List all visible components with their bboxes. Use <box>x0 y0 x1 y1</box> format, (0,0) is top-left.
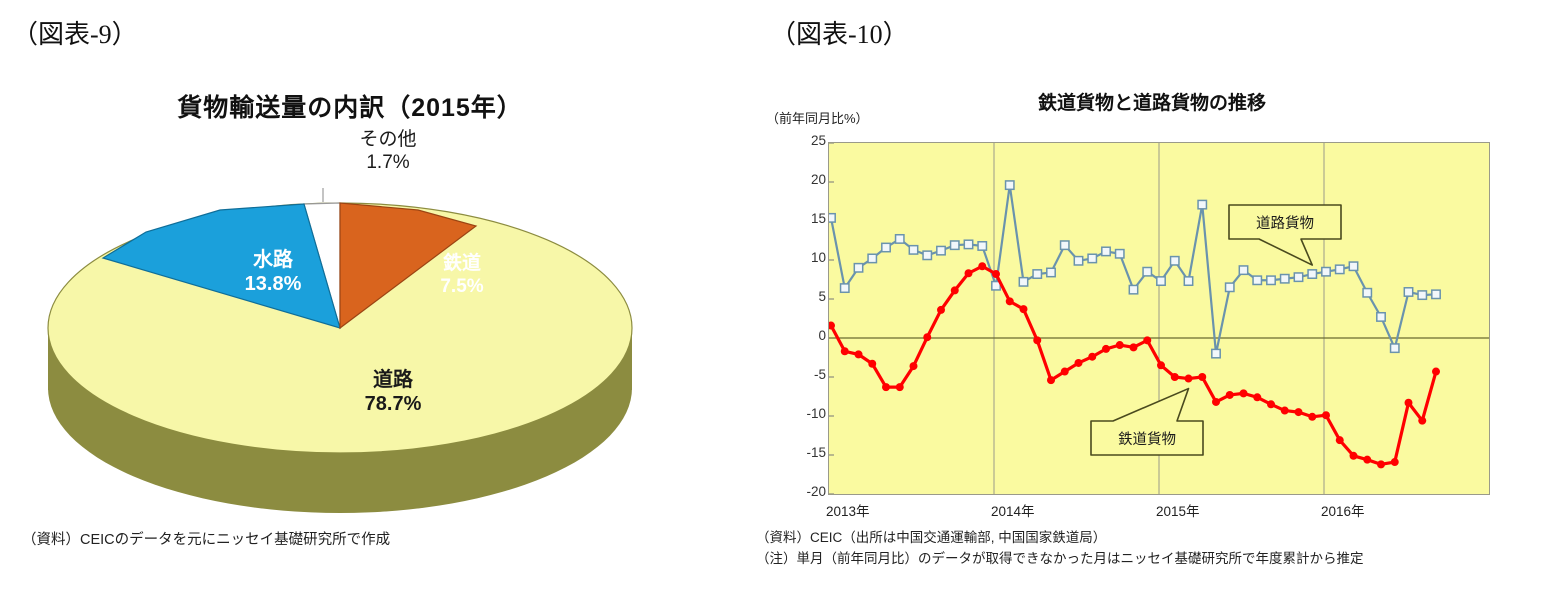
rail-road-freight-line-panel: 鉄道貨物と道路貨物の推移 （前年同月比%） 2520151050-5-10-15… <box>752 80 1552 590</box>
data-point-rail <box>855 350 863 358</box>
data-point-rail <box>965 269 973 277</box>
data-point-road <box>1212 349 1220 357</box>
data-point-road <box>1184 277 1192 285</box>
pie-label-other: その他 1.7% <box>308 128 468 174</box>
x-axis-tick-labels: 2013年2014年2015年2016年 <box>828 500 1490 522</box>
callout-rail-freight: 鉄道貨物 <box>1091 389 1203 455</box>
pie-label-road: 道路 78.7% <box>318 368 468 417</box>
y-tick-10: 10 <box>780 250 826 265</box>
line-source-note: （資料）CEIC（出所は中国交通運輸部, 中国国家鉄道局） <box>756 528 1364 549</box>
data-point-road <box>1019 278 1027 286</box>
data-point-road <box>1157 277 1165 285</box>
data-point-road <box>1308 270 1316 278</box>
data-point-rail <box>1226 391 1234 399</box>
data-point-rail <box>1198 373 1206 381</box>
data-point-road <box>1363 289 1371 297</box>
pie-3d-graphic: その他 1.7% 水路 13.8% 鉄道 7.5% 道路 78.7% <box>40 140 700 560</box>
data-point-road <box>1391 344 1399 352</box>
data-point-rail <box>1020 305 1028 313</box>
data-point-rail <box>923 333 931 341</box>
figure-9-tag: （図表-9） <box>12 14 138 51</box>
data-point-road <box>1336 265 1344 273</box>
y-axis-unit-label: （前年同月比%） <box>766 108 869 127</box>
pie-label-water-name: 水路 <box>253 249 293 271</box>
data-point-rail <box>1157 361 1165 369</box>
pie-svg <box>40 140 700 560</box>
data-point-rail <box>896 383 904 391</box>
data-point-road <box>1404 288 1412 296</box>
data-point-rail <box>1405 399 1413 407</box>
data-point-road <box>978 242 986 250</box>
y-tick-25: 25 <box>780 133 826 148</box>
x-tick-2016: 2016年 <box>1321 500 1365 520</box>
freight-share-pie-panel: 貨物輸送量の内訳（2015年） <box>0 80 740 580</box>
data-point-rail <box>1308 413 1316 421</box>
data-point-road <box>1006 181 1014 189</box>
data-point-rail <box>1088 353 1096 361</box>
data-point-rail <box>1391 458 1399 466</box>
data-point-road <box>1047 268 1055 276</box>
data-point-rail <box>1267 400 1275 408</box>
data-point-road <box>923 251 931 259</box>
data-point-road <box>1116 250 1124 258</box>
data-point-rail <box>1130 343 1138 351</box>
pie-label-road-value: 78.7% <box>318 392 468 416</box>
data-point-road <box>896 235 904 243</box>
line-chart-svg: 道路貨物鉄道貨物 <box>829 143 1489 494</box>
data-point-rail <box>1281 407 1289 415</box>
data-point-rail <box>1075 359 1083 367</box>
y-tick-15: 15 <box>780 211 826 226</box>
data-point-road <box>1088 254 1096 262</box>
y-tick-0: 0 <box>780 328 826 343</box>
data-point-road <box>1102 247 1110 255</box>
data-point-rail <box>1047 376 1055 384</box>
data-point-road <box>1281 275 1289 283</box>
data-point-road <box>829 214 835 222</box>
data-point-rail <box>1322 411 1330 419</box>
data-point-rail <box>1212 398 1220 406</box>
data-point-road <box>854 264 862 272</box>
y-tick-neg5: -5 <box>780 367 826 382</box>
data-point-rail <box>1143 336 1151 344</box>
figure-10-tag: （図表-10） <box>770 14 909 51</box>
pie-source-note: （資料）CEICのデータを元にニッセイ基礎研究所で作成 <box>22 528 390 549</box>
data-point-road <box>964 240 972 248</box>
y-axis-tick-labels: 2520151050-5-10-15-20 <box>770 142 826 495</box>
data-point-road <box>1143 268 1151 276</box>
pie-label-rail: 鉄道 7.5% <box>402 252 522 298</box>
data-point-rail <box>1253 393 1261 401</box>
data-point-road <box>882 243 890 251</box>
y-tick-5: 5 <box>780 289 826 304</box>
data-point-road <box>868 254 876 262</box>
data-point-road <box>1033 270 1041 278</box>
data-point-road <box>951 241 959 249</box>
data-point-road <box>1129 285 1137 293</box>
pie-chart-stage: その他 1.7% 水路 13.8% 鉄道 7.5% 道路 78.7% <box>40 140 700 560</box>
line-chart-plot-area: 道路貨物鉄道貨物 <box>828 142 1490 495</box>
data-point-road <box>1171 257 1179 265</box>
data-point-rail <box>992 270 1000 278</box>
data-point-road <box>1239 266 1247 274</box>
data-point-rail <box>1295 408 1303 416</box>
y-tick-neg10: -10 <box>780 406 826 421</box>
data-point-rail <box>1033 336 1041 344</box>
pie-label-road-name: 道路 <box>373 369 413 391</box>
pie-label-rail-name: 鉄道 <box>443 253 481 274</box>
data-point-road <box>1349 262 1357 270</box>
line-chart-title: 鉄道貨物と道路貨物の推移 <box>872 88 1432 115</box>
data-point-rail <box>1240 389 1248 397</box>
data-point-rail <box>1185 375 1193 383</box>
line-method-note: （注）単月（前年同月比）のデータが取得できなかった月はニッセイ基礎研究所で年度累… <box>756 549 1364 570</box>
data-point-road <box>1322 268 1330 276</box>
data-point-rail <box>1418 417 1426 425</box>
data-point-road <box>1377 313 1385 321</box>
pie-chart-title: 貨物輸送量の内訳（2015年） <box>0 88 700 124</box>
data-point-rail <box>1061 368 1069 376</box>
data-point-rail <box>1006 297 1014 305</box>
data-point-rail <box>951 286 959 294</box>
data-point-rail <box>910 362 918 370</box>
data-point-rail <box>978 262 986 270</box>
x-tick-2015: 2015年 <box>1156 500 1200 520</box>
y-tick-neg15: -15 <box>780 445 826 460</box>
data-point-road <box>1061 241 1069 249</box>
y-tick-20: 20 <box>780 172 826 187</box>
data-point-rail <box>1377 460 1385 468</box>
pie-label-other-value: 1.7% <box>308 151 468 174</box>
pie-label-water: 水路 13.8% <box>208 248 338 297</box>
data-point-road <box>841 284 849 292</box>
x-tick-2014: 2014年 <box>991 500 1035 520</box>
data-point-road <box>1198 200 1206 208</box>
line-chart-notes: （資料）CEIC（出所は中国交通運輸部, 中国国家鉄道局） （注）単月（前年同月… <box>756 528 1364 570</box>
data-point-rail <box>882 383 890 391</box>
data-point-road <box>937 246 945 254</box>
pie-label-rail-value: 7.5% <box>402 275 522 298</box>
data-point-rail <box>868 360 876 368</box>
data-point-rail <box>1102 345 1110 353</box>
data-point-road <box>1294 273 1302 281</box>
x-tick-2013: 2013年 <box>826 500 870 520</box>
data-point-road <box>1074 257 1082 265</box>
data-point-rail <box>1171 373 1179 381</box>
data-point-rail <box>1432 368 1440 376</box>
callout-rail-label: 鉄道貨物 <box>1118 431 1176 448</box>
data-point-road <box>1226 283 1234 291</box>
data-point-road <box>1253 276 1261 284</box>
callout-road-label: 道路貨物 <box>1256 215 1314 232</box>
y-tick-neg20: -20 <box>780 484 826 499</box>
pie-label-water-value: 13.8% <box>208 272 338 296</box>
data-point-road <box>909 246 917 254</box>
data-point-rail <box>1336 436 1344 444</box>
data-point-road <box>1267 276 1275 284</box>
data-point-rail <box>1363 456 1371 464</box>
pie-label-other-name: その他 <box>359 129 416 150</box>
data-point-rail <box>1350 452 1358 460</box>
data-point-rail <box>1116 341 1124 349</box>
data-point-rail <box>937 306 945 314</box>
data-point-rail <box>841 347 849 355</box>
data-point-road <box>1418 291 1426 299</box>
data-point-road <box>1432 290 1440 298</box>
